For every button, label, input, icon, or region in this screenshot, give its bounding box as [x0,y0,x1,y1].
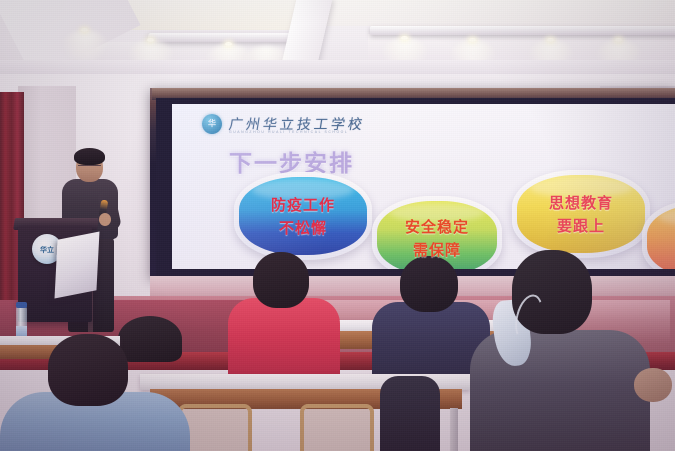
attendee-partial-shoulder [380,376,440,451]
bottle-cap [16,302,27,308]
bubble-core: 思想教育 要跟上 [517,175,645,253]
ceiling-rail-right [370,26,675,35]
attendee-body [228,298,340,382]
bubble-line-1: 安全稳定 [405,216,469,237]
podium-emblem-text: 华立 [40,246,54,253]
table-leg [450,408,458,451]
logo-mark-glyph: 华 [208,120,216,128]
downlight-icon [147,38,154,42]
attendee-head [400,256,458,312]
bubble-line-1: 防疫工作 [271,194,335,215]
bubble-core: 防疫工作 不松懈 [239,177,367,255]
speaker-hand [99,213,111,226]
chair-back [300,404,374,451]
attendee-head [118,316,182,362]
presentation-slide: 华 广州华立技工学校 GUANGZHOU HUALI TECHNICAL SCH… [172,104,675,269]
bubble-line-2: 不松懈 [279,217,327,238]
speaker-hair [74,148,105,165]
attendee-hand [634,368,672,402]
slide-bubble-2: 安全稳定 需保障 [372,196,502,269]
downlight-icon [225,42,232,46]
downlight-icon [401,36,408,40]
downlight-icon [62,30,108,64]
bubble-line-1: 思想教育 [549,192,613,213]
school-logo-icon: 华 [202,114,222,134]
downlight-icon [81,28,88,32]
laptop [55,232,100,299]
downlight-icon [469,38,476,42]
downlight-icon [547,38,554,42]
ceiling-bay-right [300,0,675,26]
school-name-en: GUANGZHOU HUALI TECHNICAL SCHOOL [229,130,348,134]
downlight-icon [615,38,622,42]
bubble-line-2: 要跟上 [557,215,605,236]
bubble-line-2: 需保障 [413,239,461,260]
bubble-core [647,205,675,269]
attendee-head [48,334,128,406]
ceiling-rail-left [147,33,309,42]
attendee-head [253,252,309,308]
bubble-core: 安全稳定 需保障 [377,201,497,269]
slide-bubble-1: 防疫工作 不松懈 [234,172,372,260]
slide-bubble-3: 思想教育 要跟上 [512,170,650,258]
presentation-photo: 华 广州华立技工学校 GUANGZHOU HUALI TECHNICAL SCH… [0,0,675,451]
glasses-icon [78,165,101,172]
